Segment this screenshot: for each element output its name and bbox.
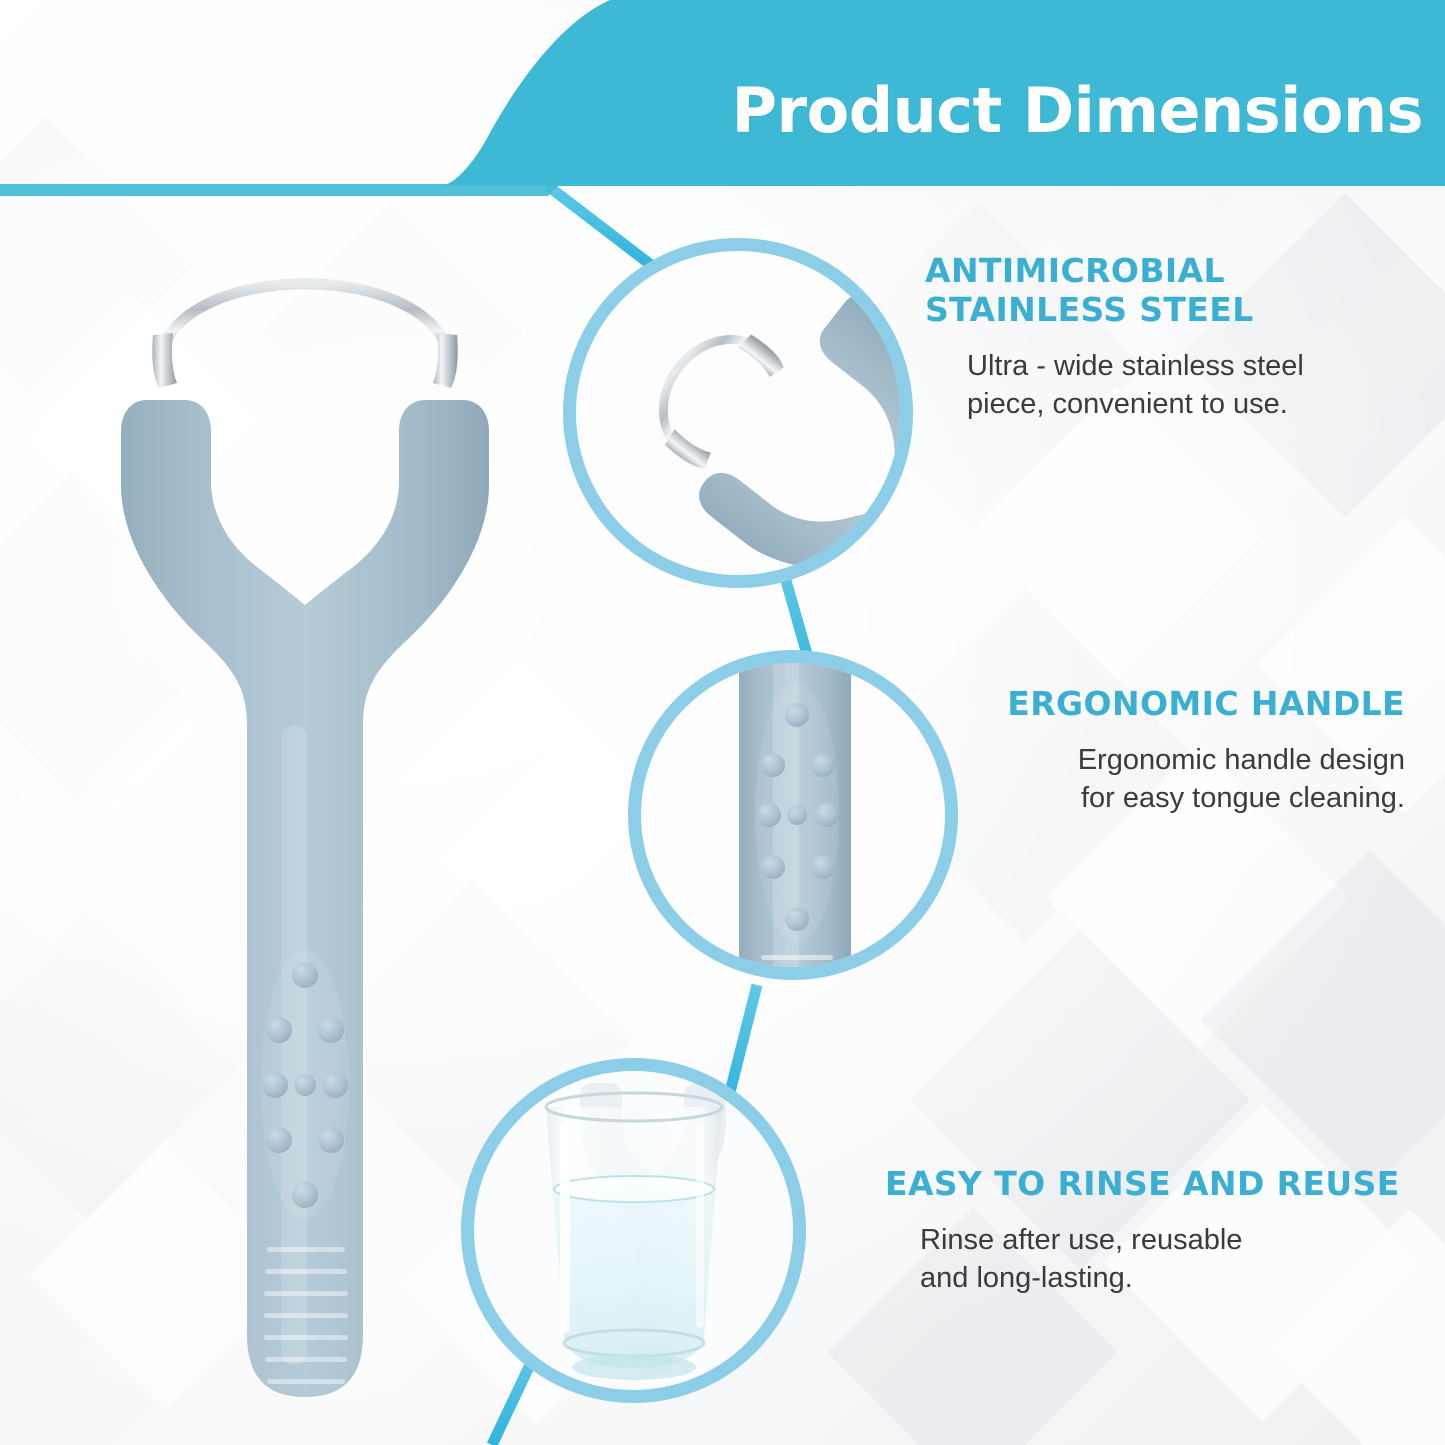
header-banner: Product Dimensions [0, 0, 1445, 210]
callout-ring-3 [461, 1058, 806, 1403]
feature-title: EASY TO RINSE AND REUSE [885, 1165, 1405, 1204]
page-title: Product Dimensions [732, 74, 1423, 147]
feature-title: ANTIMICROBIAL STAINLESS STEEL [925, 252, 1395, 330]
callout-ring-2 [628, 650, 958, 980]
steel-ferrule-left [152, 333, 177, 388]
feature-ergonomic-handle: ERGONOMIC HANDLE Ergonomic handle design… [985, 685, 1405, 817]
product-infographic: Product Dimensions [0, 0, 1445, 1445]
stainless-steel-blade [159, 284, 451, 370]
steel-ferrule-right [433, 333, 458, 388]
feature-easy-to-rinse-and-reuse: EASY TO RINSE AND REUSE Rinse after use,… [885, 1165, 1405, 1297]
product-hero-image [95, 185, 515, 1415]
callout-ring-1 [563, 238, 913, 588]
feature-body: Rinse after use, reusable and long-lasti… [885, 1221, 1405, 1298]
feature-title: ERGONOMIC HANDLE [985, 685, 1405, 724]
feature-body: Ultra - wide stainless steel piece, conv… [925, 347, 1395, 424]
tongue-scraper-illustration [95, 185, 515, 1415]
feature-body: Ergonomic handle design for easy tongue … [985, 741, 1405, 818]
feature-antimicrobial-stainless-steel: ANTIMICROBIAL STAINLESS STEEL Ultra - wi… [925, 252, 1395, 423]
